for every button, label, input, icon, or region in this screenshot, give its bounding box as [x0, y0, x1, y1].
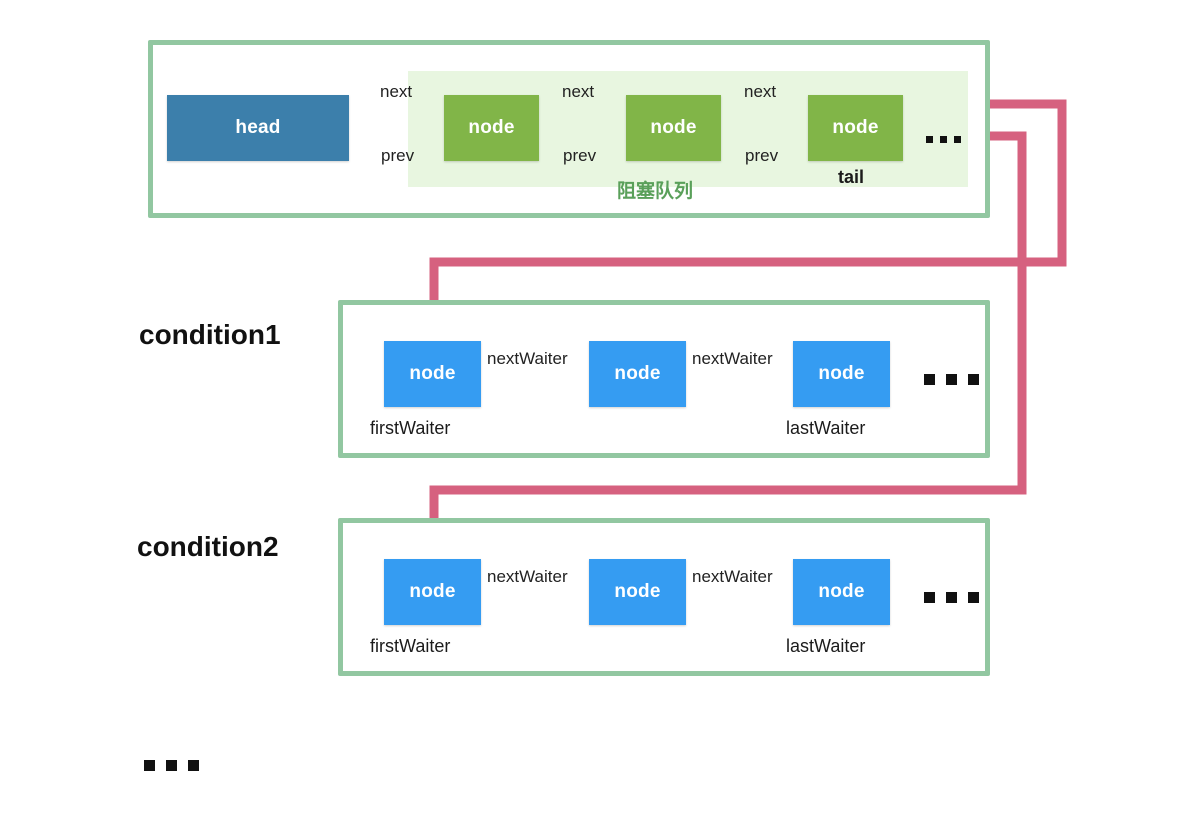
condition2-nextwaiter-label-2: nextWaiter	[692, 567, 773, 587]
condition1-label: condition1	[139, 319, 281, 351]
condition1-node-1[interactable]: node	[384, 341, 481, 407]
condition2-firstwaiter-caption: firstWaiter	[370, 636, 450, 657]
queue-prev-label-1: prev	[381, 146, 414, 166]
head-node[interactable]: head	[167, 95, 349, 161]
condition2-label: condition2	[137, 531, 279, 563]
queue-node-3-tail[interactable]: node	[808, 95, 903, 161]
queue-prev-label-3: prev	[745, 146, 778, 166]
condition2-ellipsis	[924, 592, 979, 603]
condition2-node-3[interactable]: node	[793, 559, 890, 625]
condition2-nextwaiter-label-1: nextWaiter	[487, 567, 568, 587]
tail-caption: tail	[838, 167, 864, 188]
condition2-lastwaiter-caption: lastWaiter	[786, 636, 865, 657]
diagram-canvas: head node node node tail 阻塞队列 next prev …	[0, 0, 1200, 823]
queue-prev-label-2: prev	[563, 146, 596, 166]
queue-node-1[interactable]: node	[444, 95, 539, 161]
more-conditions-ellipsis	[144, 760, 199, 771]
condition2-node-1[interactable]: node	[384, 559, 481, 625]
queue-next-label-1: next	[380, 82, 412, 102]
blocking-queue-label: 阻塞队列	[617, 176, 693, 203]
queue-next-label-2: next	[562, 82, 594, 102]
queue-ellipsis	[926, 136, 961, 143]
condition1-nextwaiter-label-2: nextWaiter	[692, 349, 773, 369]
queue-next-label-3: next	[744, 82, 776, 102]
condition1-node-2[interactable]: node	[589, 341, 686, 407]
condition1-firstwaiter-caption: firstWaiter	[370, 418, 450, 439]
condition1-ellipsis	[924, 374, 979, 385]
condition1-lastwaiter-caption: lastWaiter	[786, 418, 865, 439]
condition1-nextwaiter-label-1: nextWaiter	[487, 349, 568, 369]
condition2-node-2[interactable]: node	[589, 559, 686, 625]
queue-node-2[interactable]: node	[626, 95, 721, 161]
condition1-node-3[interactable]: node	[793, 341, 890, 407]
